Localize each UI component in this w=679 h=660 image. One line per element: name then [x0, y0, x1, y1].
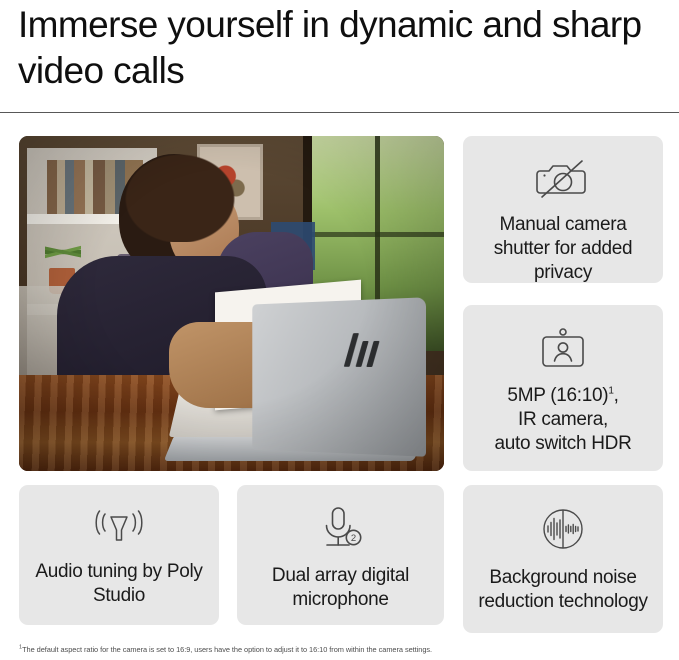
footnote: 1The default aspect ratio for the camera… — [19, 645, 669, 655]
camera-resolution-text: 5MP (16:10) — [507, 385, 608, 406]
webcam-person-frame-icon — [463, 327, 663, 371]
microphone-dual-icon: 2 — [237, 505, 444, 551]
feature-card-audio-tuning[interactable]: Audio tuning by Poly Studio — [19, 485, 219, 625]
feature-card-dual-array-microphone[interactable]: 2 Dual array digital microphone — [237, 485, 444, 625]
header-divider — [0, 112, 679, 113]
feature-card-label: Dual array digital microphone — [237, 564, 444, 612]
page-title: Immerse yourself in dynamic and sharp vi… — [18, 2, 663, 94]
feature-card-label: 5MP (16:10)1, IR camera, auto switch HDR — [463, 384, 663, 456]
lifestyle-photo — [19, 136, 444, 471]
feature-card-label: Manual camera shutter for added privacy — [463, 213, 663, 285]
noise-reduction-waveform-icon — [463, 505, 663, 553]
speaker-sound-waves-icon — [19, 507, 219, 547]
camera-resolution-comma: , — [614, 385, 619, 406]
feature-card-background-noise-reduction[interactable]: Background noise reduction technology — [463, 485, 663, 633]
feature-grid: Manual camera shutter for added privacy … — [0, 128, 679, 633]
feature-card-manual-camera-shutter[interactable]: Manual camera shutter for added privacy — [463, 136, 663, 283]
camera-hdr-text: auto switch HDR — [495, 433, 632, 454]
photo-scene — [19, 136, 444, 471]
feature-card-label: Audio tuning by Poly Studio — [19, 560, 219, 608]
svg-text:2: 2 — [350, 533, 355, 544]
footnote-text: The default aspect ratio for the camera … — [22, 645, 432, 654]
photo-vignette — [19, 136, 444, 471]
feature-card-camera-specs[interactable]: 5MP (16:10)1, IR camera, auto switch HDR — [463, 305, 663, 471]
camera-ir-text: IR camera, — [518, 409, 608, 430]
camera-shutter-off-icon — [463, 158, 663, 200]
feature-card-label: Background noise reduction technology — [463, 566, 663, 614]
